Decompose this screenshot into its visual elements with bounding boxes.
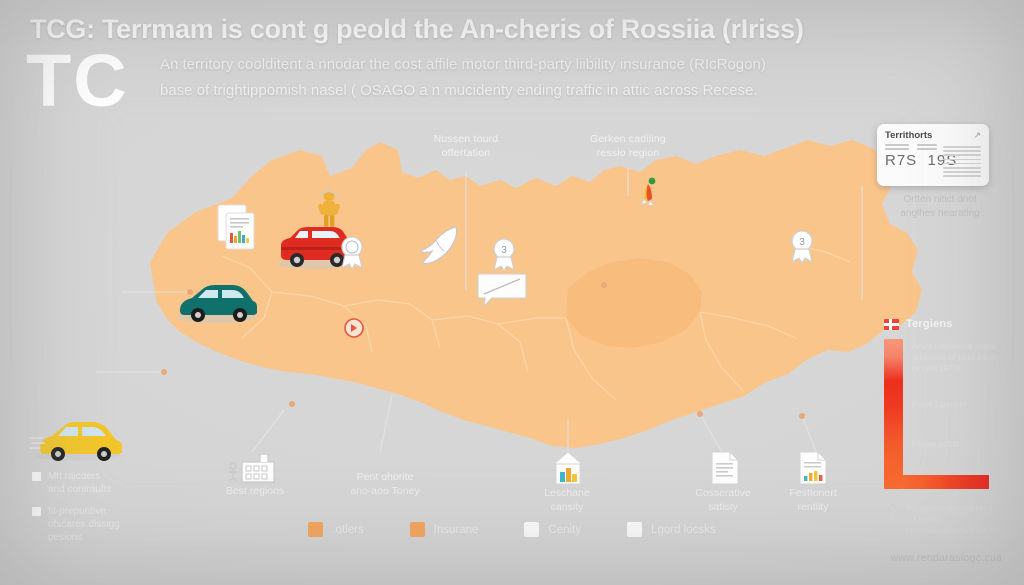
icon-label-penal-authority: Pent ohorite ano-aoo Toney bbox=[320, 470, 450, 498]
map-callout-1: Nussen tourd offertation bbox=[396, 132, 536, 160]
city-buildings-icon bbox=[229, 454, 274, 482]
icon-label-leschane-cansity: Leschane cansity bbox=[512, 486, 622, 514]
legend-swatch bbox=[308, 522, 323, 537]
ramp-entry-3: Phuite (a5 f) bbox=[912, 439, 1002, 450]
icon-label-festtonert-rentiity: Festtonert rentiity bbox=[758, 486, 868, 514]
flag-icon bbox=[884, 319, 899, 330]
territories-card[interactable]: Territhorts ↗ R7S 19S bbox=[877, 124, 989, 186]
bullet-square-icon bbox=[32, 507, 41, 516]
legend-label: Lgord locsks bbox=[651, 524, 716, 536]
bullet-item: Mtt raicders and contraufts bbox=[32, 470, 167, 496]
card-title: Territhorts bbox=[885, 130, 932, 141]
card-caption: Ortten nitict dnot anglhes nearating bbox=[884, 193, 996, 221]
horizontal-color-ramp bbox=[903, 475, 989, 489]
ramp-entry-1: Arsot Leofereca ordcu ancooror of post a… bbox=[912, 341, 1002, 374]
right-legend-panel: Tergiens Arsot Leofereca ordcu ancooror … bbox=[884, 318, 1004, 536]
card-rule bbox=[917, 148, 937, 150]
stamp-icon bbox=[345, 319, 363, 337]
brand-logo: TC bbox=[26, 44, 129, 118]
svg-text:3: 3 bbox=[799, 237, 805, 248]
yellow-car-icon bbox=[30, 422, 122, 461]
card-rule bbox=[885, 148, 909, 150]
right-legend-body: Arsot Leofereca ordcu ancooror of post a… bbox=[884, 339, 1004, 489]
card-rule bbox=[885, 144, 909, 146]
icon-label-best-regions: Best regions bbox=[200, 484, 310, 498]
bullet-square-icon bbox=[32, 472, 41, 481]
card-rule bbox=[917, 144, 937, 146]
award-ribbon-icon-east: 3 bbox=[792, 231, 812, 263]
legend-label: Insurane bbox=[434, 524, 479, 536]
watermark: www.rendarasiogc.cua bbox=[884, 552, 1009, 564]
award-ribbon-icon-a bbox=[342, 237, 362, 269]
expand-arrow-icon[interactable]: ↗ bbox=[973, 130, 981, 141]
house-chart-icon bbox=[554, 452, 582, 484]
droplet-icon bbox=[888, 504, 897, 515]
card-text-lines bbox=[943, 146, 981, 180]
svg-text:3: 3 bbox=[501, 245, 507, 256]
legend-item-otlers[interactable]: .otlers bbox=[308, 522, 363, 537]
map-landmass bbox=[150, 140, 922, 448]
legend-label: .otlers bbox=[332, 524, 363, 536]
infographic-canvas: 3 3 bbox=[0, 0, 1024, 585]
legend-label: Cenity bbox=[548, 524, 581, 536]
legend-swatch bbox=[410, 522, 425, 537]
header: TCG: Terrmam is cont g peold the An-cher… bbox=[0, 0, 1024, 130]
page-title: TCG: Terrmam is cont g peold the An-cher… bbox=[30, 14, 804, 45]
document-chart-icon-b bbox=[800, 452, 826, 484]
ramp-entry-2: Prent Epeion? bbox=[912, 399, 1002, 410]
bullet-text: Mtt raicders and contraufts bbox=[48, 470, 111, 496]
award-ribbon-icon-b: 3 bbox=[494, 239, 514, 271]
subtitle-line-1: An territory coolditent a nnodar the cos… bbox=[160, 56, 766, 73]
legend-strip: .otlers Insurane Cenity Lgord locsks bbox=[0, 522, 1024, 537]
right-legend-title: Tergiens bbox=[906, 318, 953, 330]
bottom-left-bullets: Mtt raicders and contraufts fit-prepunti… bbox=[32, 470, 167, 553]
subtitle-line-2: base of trightippomish nasel ( OSAGO a n… bbox=[160, 82, 758, 99]
legend-item-cenity[interactable]: Cenity bbox=[524, 522, 581, 537]
legend-item-insurane[interactable]: Insurane bbox=[410, 522, 479, 537]
map-callout-2: Gerken cadiling ressio region bbox=[558, 132, 698, 160]
legend-item-lgord-locsks[interactable]: Lgord locsks bbox=[627, 522, 716, 537]
legend-swatch bbox=[524, 522, 539, 537]
document-icon-a bbox=[712, 452, 738, 484]
vertical-color-ramp bbox=[884, 339, 903, 489]
legend-swatch bbox=[627, 522, 642, 537]
right-legend-header: Tergiens bbox=[884, 318, 1004, 330]
